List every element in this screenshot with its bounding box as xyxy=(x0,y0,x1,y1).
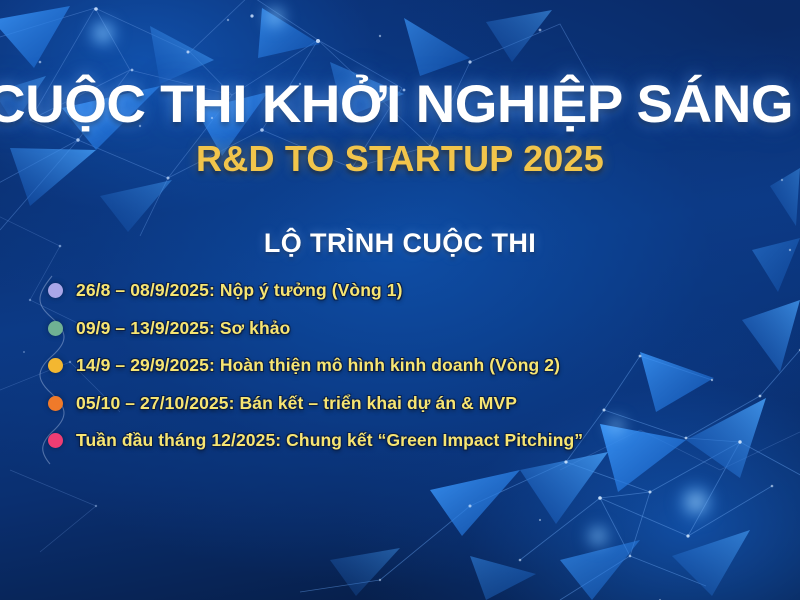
glow-accent-top-left xyxy=(86,16,120,50)
roadmap-item-label: 05/10 – 27/10/2025: Bán kết – triển khai… xyxy=(76,393,517,414)
bullet-icon xyxy=(48,433,63,448)
bullet-icon xyxy=(48,396,63,411)
roadmap-item: 09/9 – 13/9/2025: Sơ khảo xyxy=(48,310,768,348)
roadmap-item-label: 26/8 – 08/9/2025: Nộp ý tưởng (Vòng 1) xyxy=(76,280,403,301)
roadmap-list: 26/8 – 08/9/2025: Nộp ý tưởng (Vòng 1) 0… xyxy=(48,272,768,460)
title-block: CUỘC THI KHỞI NGHIỆP SÁNG TẠO R&D TO STA… xyxy=(0,78,800,178)
roadmap-item-label: 09/9 – 13/9/2025: Sơ khảo xyxy=(76,318,290,339)
glow-accent-bottom-center xyxy=(584,522,612,550)
section-heading: LỘ TRÌNH CUỘC THI xyxy=(0,228,800,259)
bullet-icon xyxy=(48,283,63,298)
glow-accent-bottom-right xyxy=(676,482,716,522)
bullet-icon xyxy=(48,358,63,373)
roadmap-item: Tuần đầu tháng 12/2025: Chung kết “Green… xyxy=(48,422,768,460)
glow-accent-top-center xyxy=(262,4,288,30)
roadmap-item-label: 14/9 – 29/9/2025: Hoàn thiện mô hình kin… xyxy=(76,355,560,376)
roadmap-item: 14/9 – 29/9/2025: Hoàn thiện mô hình kin… xyxy=(48,347,768,385)
sub-title: R&D TO STARTUP 2025 xyxy=(0,140,800,178)
poster-canvas: CUỘC THI KHỞI NGHIỆP SÁNG TẠO R&D TO STA… xyxy=(0,0,800,600)
roadmap-item-label: Tuần đầu tháng 12/2025: Chung kết “Green… xyxy=(76,430,583,451)
roadmap-item: 05/10 – 27/10/2025: Bán kết – triển khai… xyxy=(48,385,768,423)
bullet-icon xyxy=(48,321,63,336)
roadmap-item: 26/8 – 08/9/2025: Nộp ý tưởng (Vòng 1) xyxy=(48,272,768,310)
main-title: CUỘC THI KHỞI NGHIỆP SÁNG TẠO xyxy=(0,78,800,132)
